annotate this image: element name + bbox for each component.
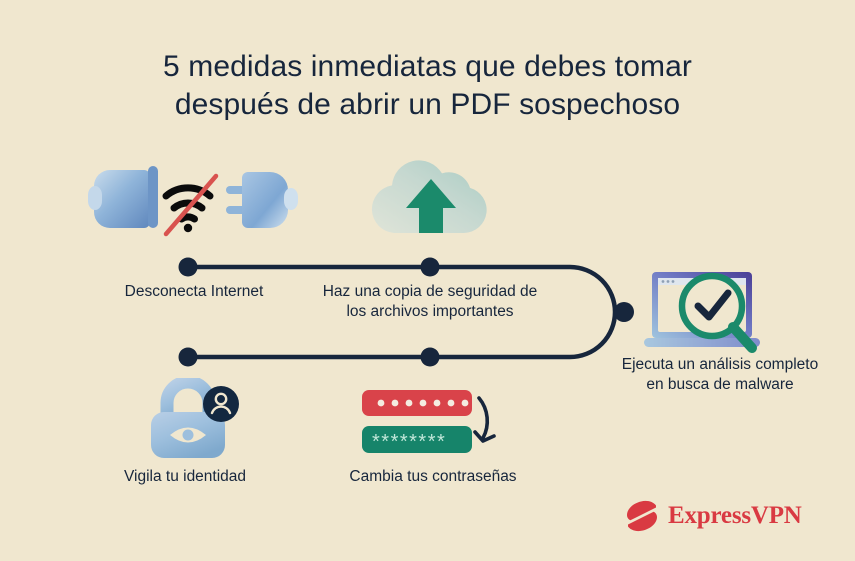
laptop-magnifier-check-icon bbox=[640, 268, 770, 360]
password-fields-icon: ******** bbox=[358, 388, 533, 456]
step-label-identity-text: Vigila tu identidad bbox=[124, 468, 246, 485]
step-label-scan-line-1: Ejecuta un análisis completo bbox=[622, 356, 818, 373]
unplugged-cord-wifi-off-icon bbox=[88, 160, 298, 238]
title-line-1: 5 medidas inmediatas que debes tomar bbox=[0, 48, 855, 86]
svg-text:********: ******** bbox=[372, 431, 446, 453]
page-title: 5 medidas inmediatas que debes tomar des… bbox=[0, 48, 855, 124]
title-line-2: después de abrir un PDF sospechoso bbox=[0, 86, 855, 124]
step-label-backup-line-1: Haz una copia de seguridad de bbox=[323, 283, 538, 300]
timeline-node-1 bbox=[179, 258, 198, 277]
change-arrow-icon bbox=[479, 398, 487, 438]
cloud-upload-icon bbox=[360, 155, 502, 237]
expressvpn-logo-icon bbox=[625, 500, 659, 532]
timeline-node-2 bbox=[421, 258, 440, 277]
step-label-backup: Haz una copia de seguridad de los archiv… bbox=[320, 282, 540, 322]
step-label-backup-line-2: los archivos importantes bbox=[346, 303, 513, 320]
brand-logo: ExpressVPN bbox=[625, 497, 802, 535]
infographic-canvas: 5 medidas inmediatas que debes tomar des… bbox=[0, 0, 855, 561]
timeline-node-4 bbox=[421, 348, 440, 367]
step-label-scan: Ejecuta un análisis completo en busca de… bbox=[595, 355, 845, 395]
brand-name: ExpressVPN bbox=[668, 502, 802, 530]
step-label-disconnect: Desconecta Internet bbox=[84, 282, 304, 302]
step-label-passwords: Cambia tus contraseñas bbox=[338, 467, 528, 487]
step-label-passwords-text: Cambia tus contraseñas bbox=[349, 468, 516, 485]
step-label-scan-line-2: en busca de malware bbox=[646, 376, 793, 393]
step-label-disconnect-text: Desconecta Internet bbox=[125, 283, 264, 300]
padlock-eye-person-icon bbox=[145, 378, 243, 460]
step-label-identity: Vigila tu identidad bbox=[95, 467, 275, 487]
timeline-node-5 bbox=[179, 348, 198, 367]
timeline-node-3 bbox=[614, 302, 634, 322]
